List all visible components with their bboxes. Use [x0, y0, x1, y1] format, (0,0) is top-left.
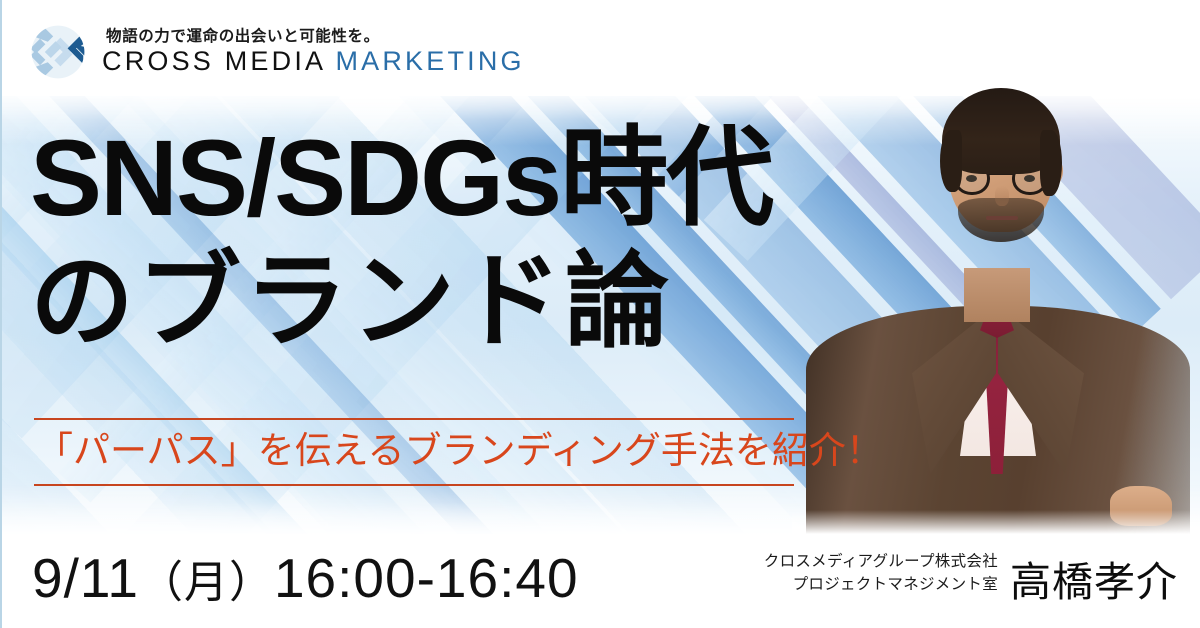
page-title: SNS/SDGs時代 のブランド論	[30, 124, 772, 354]
portrait-bottom-fade	[792, 510, 1200, 534]
speaker-department: プロジェクトマネジメント室	[793, 573, 998, 596]
portrait-mouth	[986, 216, 1018, 220]
event-datetime: 9/11（月）16:00-16:40	[32, 548, 579, 609]
footer-bar: 9/11（月）16:00-16:40 クロスメディアグループ株式会社 プロジェク…	[2, 534, 1200, 628]
subtitle-rule-bottom	[34, 484, 794, 486]
speaker-credit: クロスメディアグループ株式会社 プロジェクトマネジメント室 高橋孝介	[764, 550, 1178, 603]
portrait-neck	[964, 268, 1030, 322]
brand-wordmark-accent: MARKETING	[335, 46, 524, 76]
speaker-company: クロスメディアグループ株式会社	[764, 550, 998, 573]
webinar-banner: 物語の力で運命の出会いと可能性を。 CROSS MEDIA MARKETING …	[0, 0, 1200, 628]
speaker-affiliation: クロスメディアグループ株式会社 プロジェクトマネジメント室	[764, 550, 998, 603]
page-title-line2: のブランド論	[30, 250, 772, 354]
subtitle-block: 「パーパス」を伝えるブランディング手法を紹介！	[34, 418, 794, 486]
brand-wordmark-primary: CROSS MEDIA	[102, 46, 335, 76]
brand-logo-text: 物語の力で運命の出会いと可能性を。 CROSS MEDIA MARKETING	[102, 28, 525, 75]
portrait-hair-side-left	[940, 130, 962, 192]
event-time: 16:00-16:40	[274, 547, 579, 609]
portrait-hair-side-right	[1040, 130, 1062, 196]
brand-wordmark: CROSS MEDIA MARKETING	[102, 47, 525, 75]
brand-logo[interactable]: 物語の力で運命の出会いと可能性を。 CROSS MEDIA MARKETING	[28, 22, 525, 82]
event-weekday: （月）	[139, 558, 274, 607]
portrait-nose	[995, 186, 1009, 206]
cross-media-circle-logo-icon	[28, 22, 88, 82]
event-date: 9/11	[32, 547, 139, 609]
subtitle-text: 「パーパス」を伝えるブランディング手法を紹介！	[34, 420, 794, 484]
speaker-name: 高橋孝介	[1010, 562, 1178, 603]
brand-tagline: 物語の力で運命の出会いと可能性を。	[106, 28, 525, 45]
page-title-line1: SNS/SDGs時代	[30, 124, 772, 232]
